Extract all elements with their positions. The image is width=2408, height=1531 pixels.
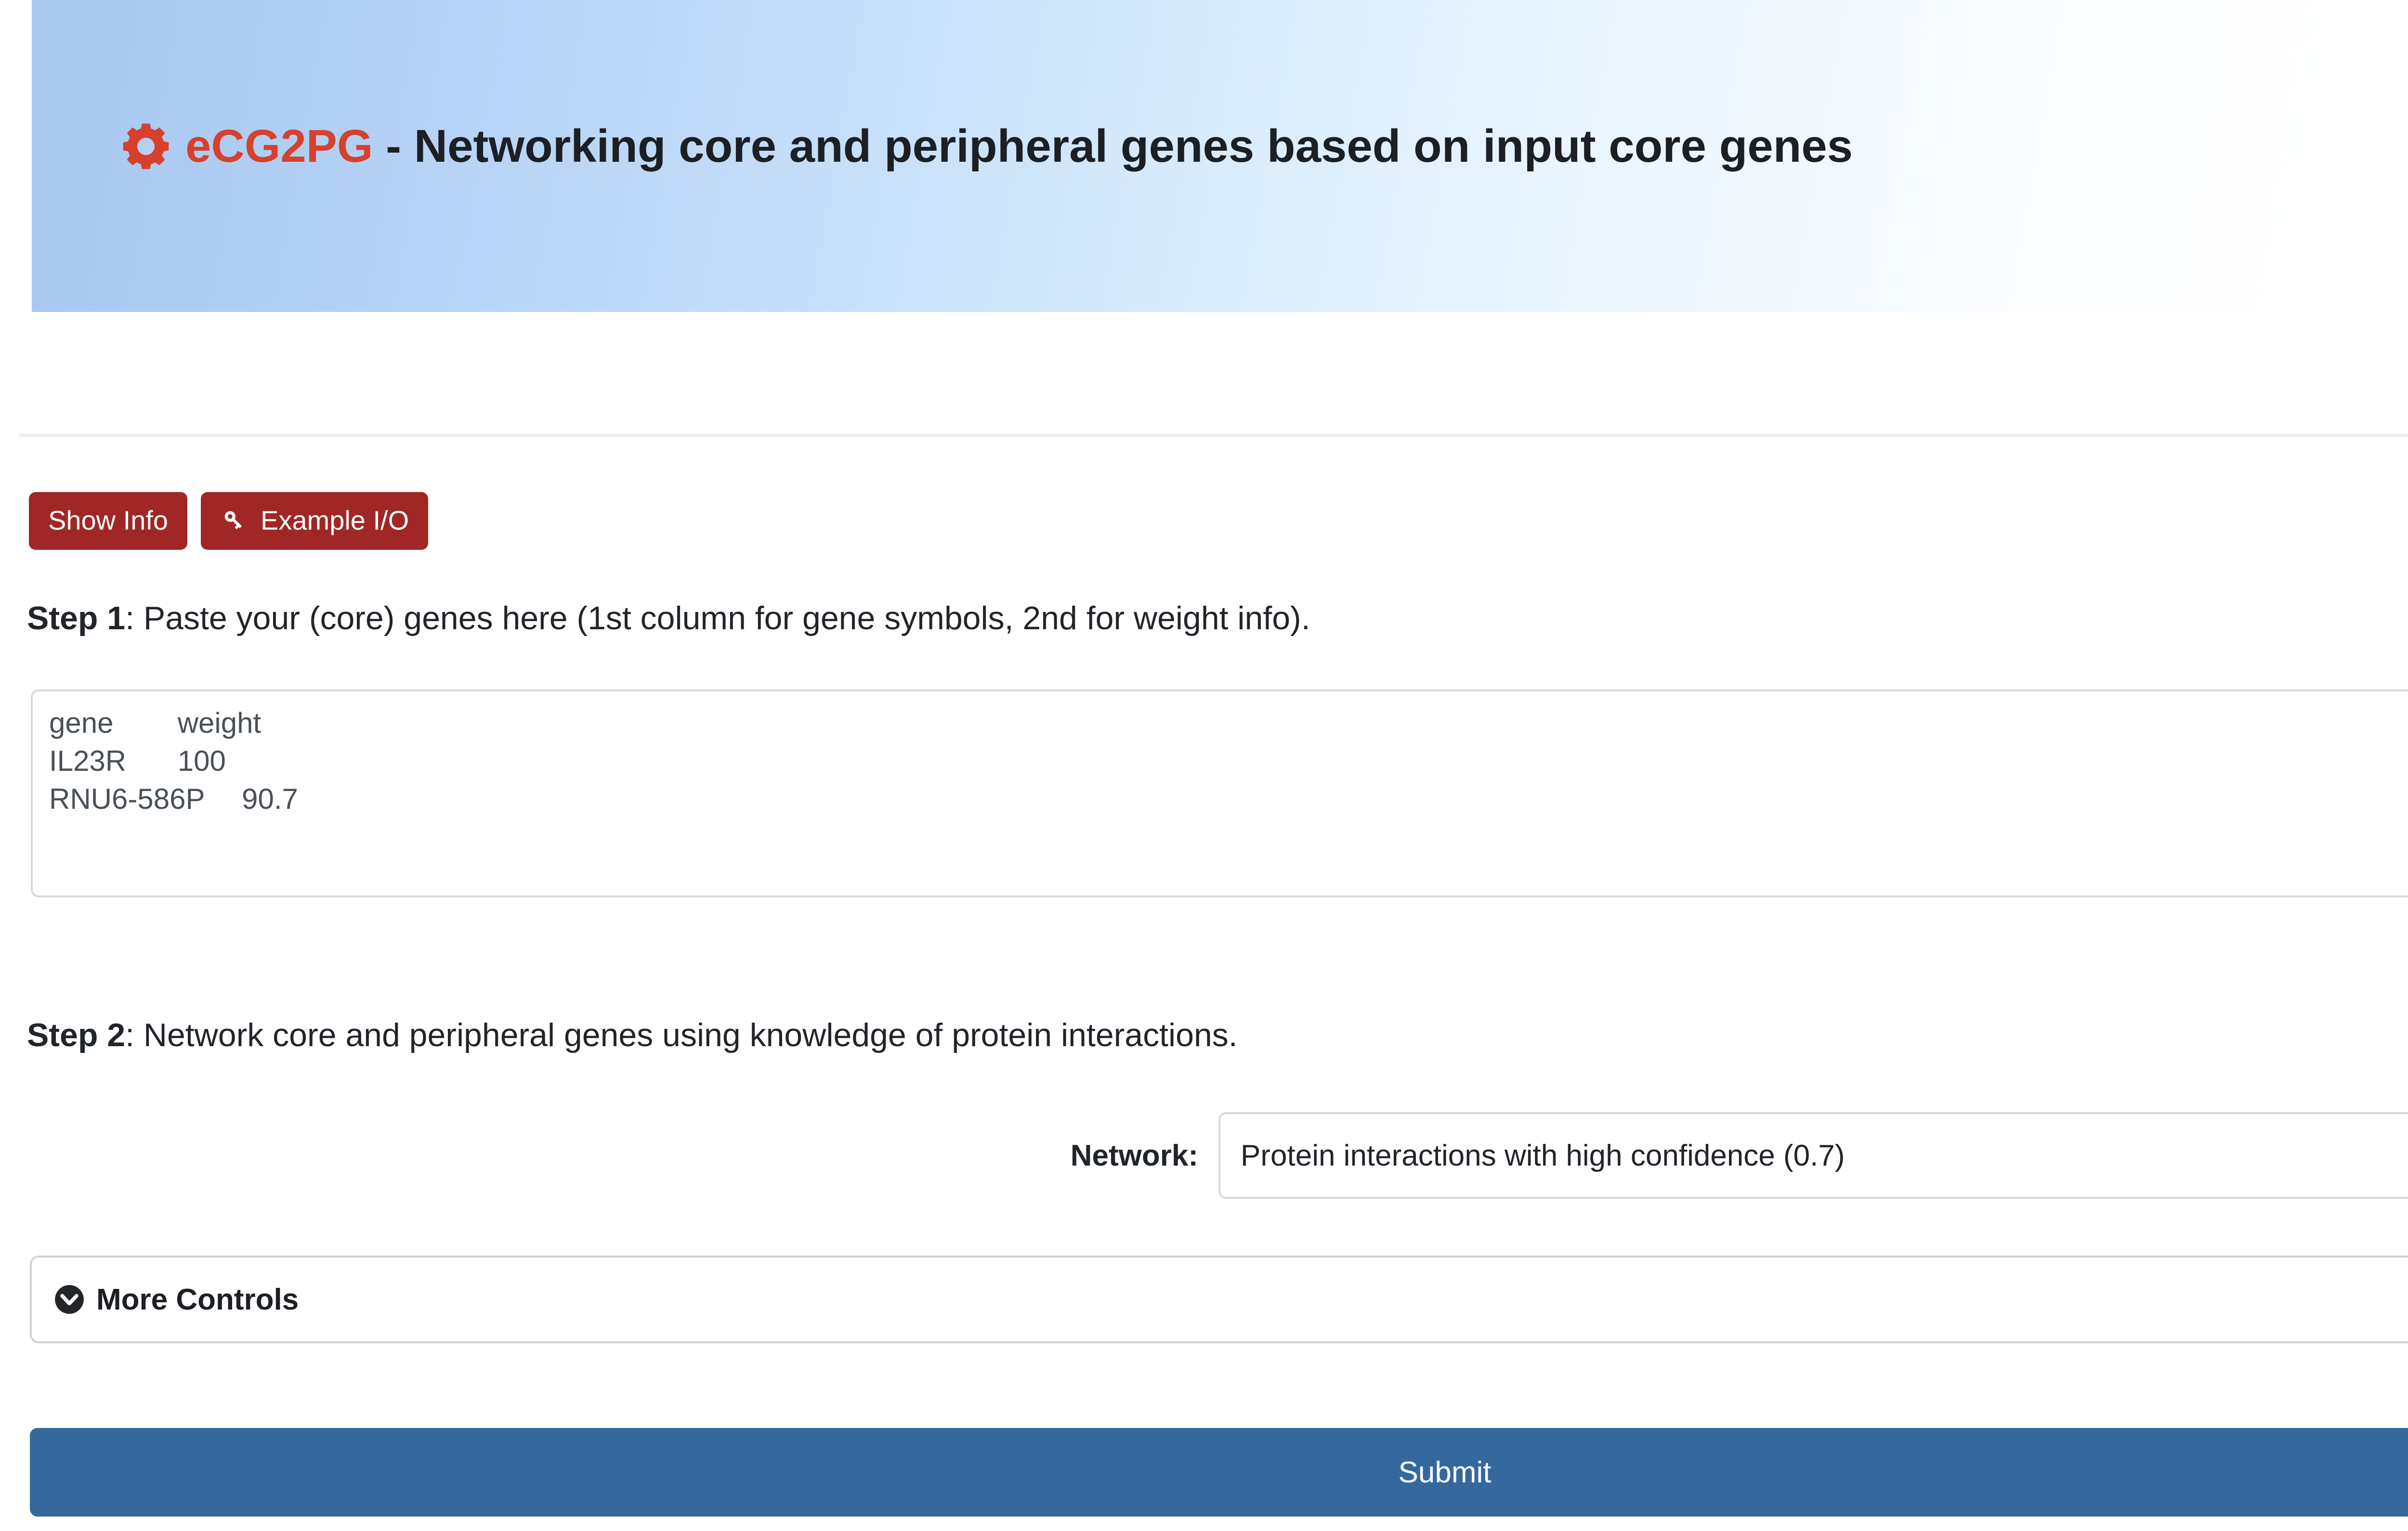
show-info-button-label: Show Info — [48, 507, 168, 534]
gear-icon — [121, 121, 185, 171]
section-divider — [19, 434, 2408, 437]
step-2-description: : Network core and peripheral genes usin… — [125, 1017, 1238, 1053]
step-1-description: : Paste your (core) genes here (1st colu… — [125, 600, 1310, 636]
page-title: eCG2PG - Networking core and peripheral … — [121, 121, 1853, 171]
page-title-brand: eCG2PG — [185, 120, 373, 172]
example-io-button[interactable]: Example I/O — [201, 492, 428, 550]
more-controls-toggle[interactable]: More Controls — [30, 1256, 2408, 1343]
action-button-row: Show Info Example I/O — [29, 492, 428, 550]
key-icon — [220, 506, 248, 534]
more-controls-label: More Controls — [96, 1283, 299, 1317]
show-info-button[interactable]: Show Info — [29, 492, 187, 550]
chevron-down-circle-icon — [54, 1284, 85, 1315]
gene-input-textarea[interactable]: gene weight IL23R 100 RNU6-586P 90.7 — [31, 689, 2408, 897]
example-io-button-label: Example I/O — [261, 507, 409, 534]
step-2-label: Step 2: Network core and peripheral gene… — [27, 1017, 1238, 1053]
submit-button[interactable]: Submit — [30, 1428, 2408, 1517]
step-1-number: Step 1 — [27, 600, 125, 636]
step-1-label: Step 1: Paste your (core) genes here (1s… — [27, 600, 1310, 636]
page-banner: BOOKLET eCG2PG - Networking core and per… — [32, 0, 2408, 312]
step-2-number: Step 2 — [27, 1017, 125, 1053]
page-title-rest: - Networking core and peripheral genes b… — [373, 120, 1853, 172]
network-select-wrapper: Protein interactions with high confidenc… — [1218, 1112, 2408, 1199]
network-select-row: Network: Protein interactions with high … — [0, 1112, 2408, 1199]
network-select-label: Network: — [0, 1139, 1218, 1173]
network-select[interactable]: Protein interactions with high confidenc… — [1218, 1112, 2408, 1199]
